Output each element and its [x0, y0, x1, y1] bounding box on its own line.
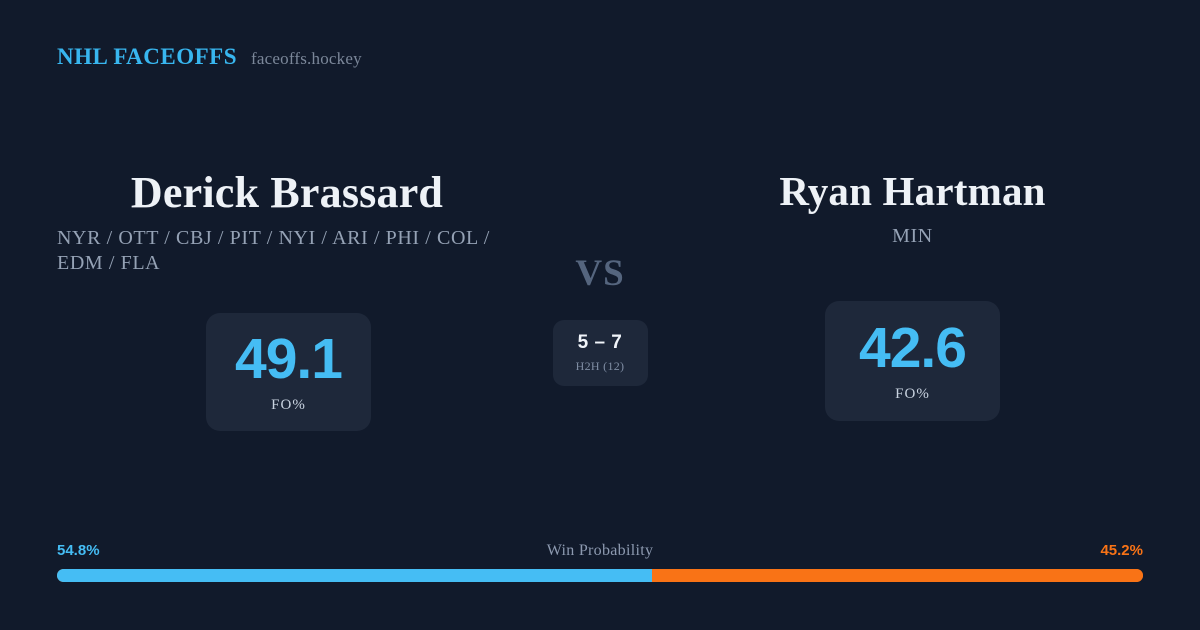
- versus-block: VS 5 – 7 H2H (12): [540, 170, 660, 386]
- player-right-teams: MIN: [710, 224, 1115, 250]
- player-right-stat-card: 42.6 FO%: [825, 301, 1000, 421]
- brand-title: NHL FACEOFFS: [57, 44, 237, 70]
- win-probability-bar: [57, 569, 1143, 582]
- player-left-name: Derick Brassard: [57, 170, 517, 217]
- player-left-teams: NYR / OTT / CBJ / PIT / NYI / ARI / PHI …: [57, 226, 517, 277]
- player-left-faceoff-value: 49.1: [235, 331, 342, 388]
- player-right-faceoff-label: FO%: [895, 386, 930, 403]
- site-header: NHL FACEOFFS faceoffs.hockey: [57, 44, 362, 70]
- head-to-head-record: 5 – 7: [578, 333, 623, 352]
- player-left-faceoff-label: FO%: [271, 397, 306, 414]
- win-probability-section: 54.8% Win Probability 45.2%: [57, 541, 1143, 582]
- win-probability-left-value: 54.8%: [57, 541, 100, 561]
- win-probability-bar-right: [652, 569, 1143, 582]
- player-right-faceoff-value: 42.6: [859, 320, 966, 377]
- win-probability-labels: 54.8% Win Probability 45.2%: [57, 541, 1143, 561]
- win-probability-right-value: 45.2%: [1100, 541, 1143, 561]
- site-domain: faceoffs.hockey: [251, 49, 362, 69]
- player-right: Ryan Hartman MIN 42.6 FO%: [710, 170, 1115, 250]
- win-probability-bar-left: [57, 569, 652, 582]
- player-left-stat-card: 49.1 FO%: [206, 313, 371, 431]
- head-to-head-label: H2H (12): [576, 359, 625, 374]
- faceoff-comparison-card: NHL FACEOFFS faceoffs.hockey Derick Bras…: [0, 0, 1200, 630]
- vs-label: VS: [540, 255, 660, 292]
- player-right-name: Ryan Hartman: [710, 170, 1115, 213]
- win-probability-title: Win Probability: [547, 541, 654, 561]
- matchup-section: Derick Brassard NYR / OTT / CBJ / PIT / …: [0, 170, 1200, 450]
- head-to-head-card: 5 – 7 H2H (12): [553, 320, 648, 386]
- player-left: Derick Brassard NYR / OTT / CBJ / PIT / …: [57, 170, 517, 277]
